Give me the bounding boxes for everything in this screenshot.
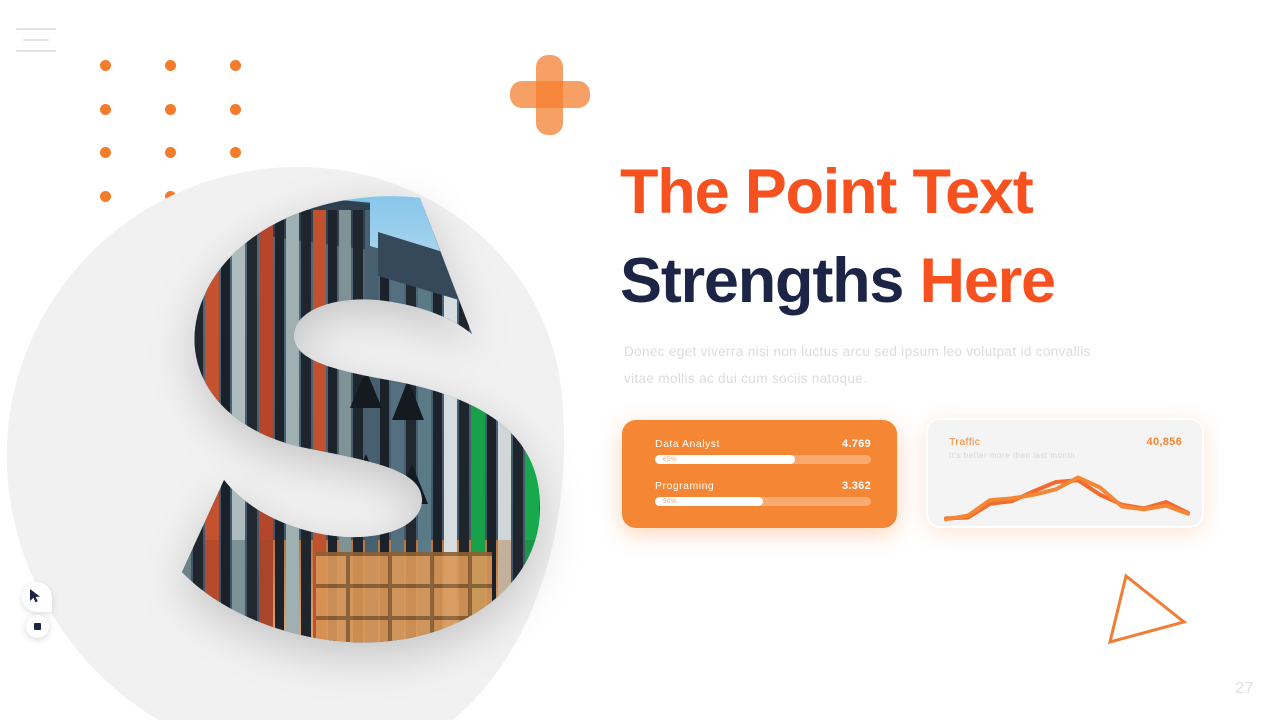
traffic-sparkline-chart — [942, 468, 1192, 526]
traffic-title: Traffic — [949, 436, 980, 448]
lead-line-1: Donec eget viverra nisi non luctus arcu … — [624, 338, 1124, 365]
lead-line-2: vitae mollis ac dui cum sociis natoque. — [624, 365, 1124, 392]
progress-fill: 50% — [655, 497, 763, 506]
grid-dot — [165, 147, 176, 158]
hamburger-line-2 — [23, 39, 49, 41]
hero-letter-image — [120, 180, 560, 660]
slide-canvas: The Point Text Strengths Here Donec eget… — [0, 0, 1280, 720]
lead-paragraph: Donec eget viverra nisi non luctus arcu … — [624, 338, 1124, 392]
headline-line-2: Strengths Here — [620, 237, 1200, 326]
stat-value: 4.769 — [842, 438, 871, 450]
headline-line-1: The Point Text — [620, 148, 1200, 237]
grid-dot — [100, 191, 111, 202]
progress-percent-label: 50% — [663, 498, 677, 505]
page-number: 27 — [1235, 680, 1254, 698]
grid-dot — [230, 104, 241, 115]
traffic-header: Traffic 40,856 — [949, 436, 1182, 448]
grid-dot — [230, 147, 241, 158]
progress-track: 65% — [655, 455, 871, 464]
stop-square-icon — [34, 623, 41, 630]
hamburger-line-1 — [16, 28, 56, 30]
sparkline-series-0 — [946, 480, 1188, 518]
cursor-pointer-icon — [30, 589, 42, 603]
grid-dot — [165, 60, 176, 71]
page-title: The Point Text Strengths Here — [620, 148, 1200, 327]
plus-vertical-bar — [536, 55, 563, 135]
hamburger-icon[interactable] — [16, 28, 56, 52]
headline-line-2-navy: Strengths — [620, 246, 920, 316]
stop-button[interactable] — [26, 615, 49, 638]
traffic-card: Traffic 40,856 It's better more than las… — [926, 418, 1204, 528]
progress-track: 50% — [655, 497, 871, 506]
hamburger-line-3 — [16, 50, 56, 52]
grid-dot — [100, 104, 111, 115]
traffic-value: 40,856 — [1147, 436, 1182, 448]
progress-percent-label: 65% — [663, 456, 677, 463]
sparkline-series-1 — [946, 478, 1188, 520]
triangle-outline-icon — [1102, 566, 1194, 652]
stat-label: Data Analyst — [655, 438, 720, 450]
stat-row: Programing 3.362 50% — [655, 480, 871, 506]
stat-header: Programing 3.362 — [655, 480, 871, 492]
stat-header: Data Analyst 4.769 — [655, 438, 871, 450]
plus-icon — [510, 55, 590, 135]
grid-dot — [100, 60, 111, 71]
grid-dot — [165, 104, 176, 115]
stat-label: Programing — [655, 480, 714, 492]
stat-row: Data Analyst 4.769 65% — [655, 438, 871, 464]
headline-line-2-orange: Here — [920, 246, 1055, 316]
grid-dot — [100, 147, 111, 158]
progress-fill: 65% — [655, 455, 795, 464]
traffic-subtitle: It's better more than last month — [949, 451, 1182, 460]
stats-card: Data Analyst 4.769 65% Programing 3.362 … — [622, 420, 897, 528]
stat-value: 3.362 — [842, 480, 871, 492]
grid-dot — [230, 60, 241, 71]
